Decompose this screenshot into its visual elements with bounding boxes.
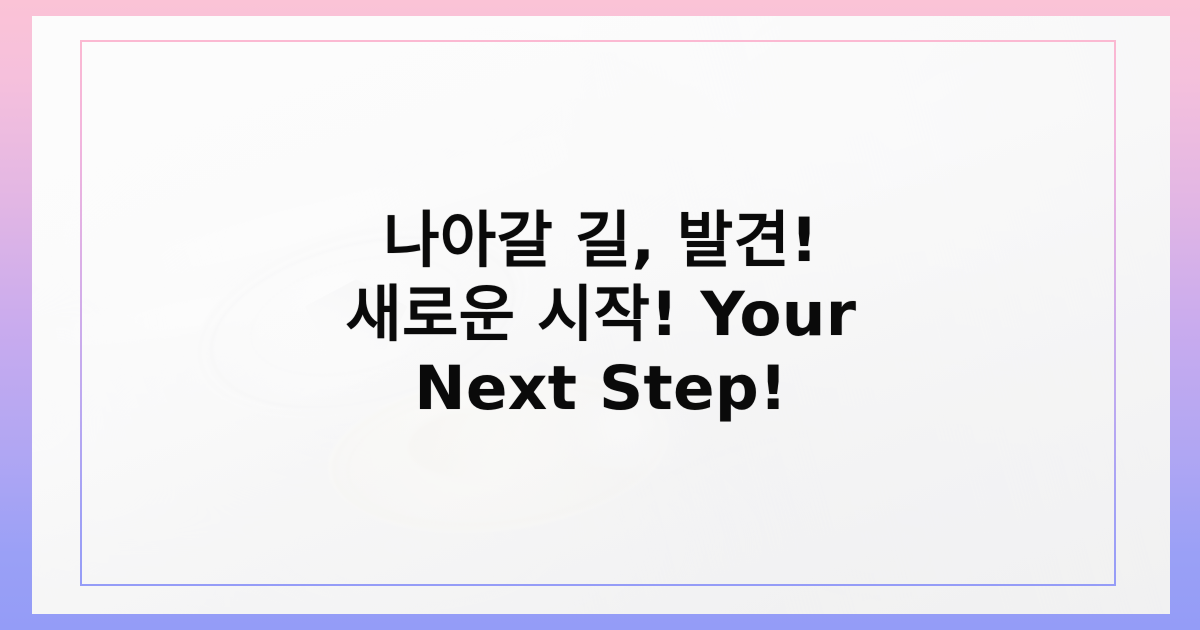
headline-container: 나아갈 길, 발견! 새로운 시작! Your Next Step! (32, 16, 1170, 614)
thumbnail-card: 나아갈 길, 발견! 새로운 시작! Your Next Step! (0, 0, 1200, 630)
photo-panel: 나아갈 길, 발견! 새로운 시작! Your Next Step! (32, 16, 1170, 614)
headline-text: 나아갈 길, 발견! 새로운 시작! Your Next Step! (346, 204, 857, 426)
